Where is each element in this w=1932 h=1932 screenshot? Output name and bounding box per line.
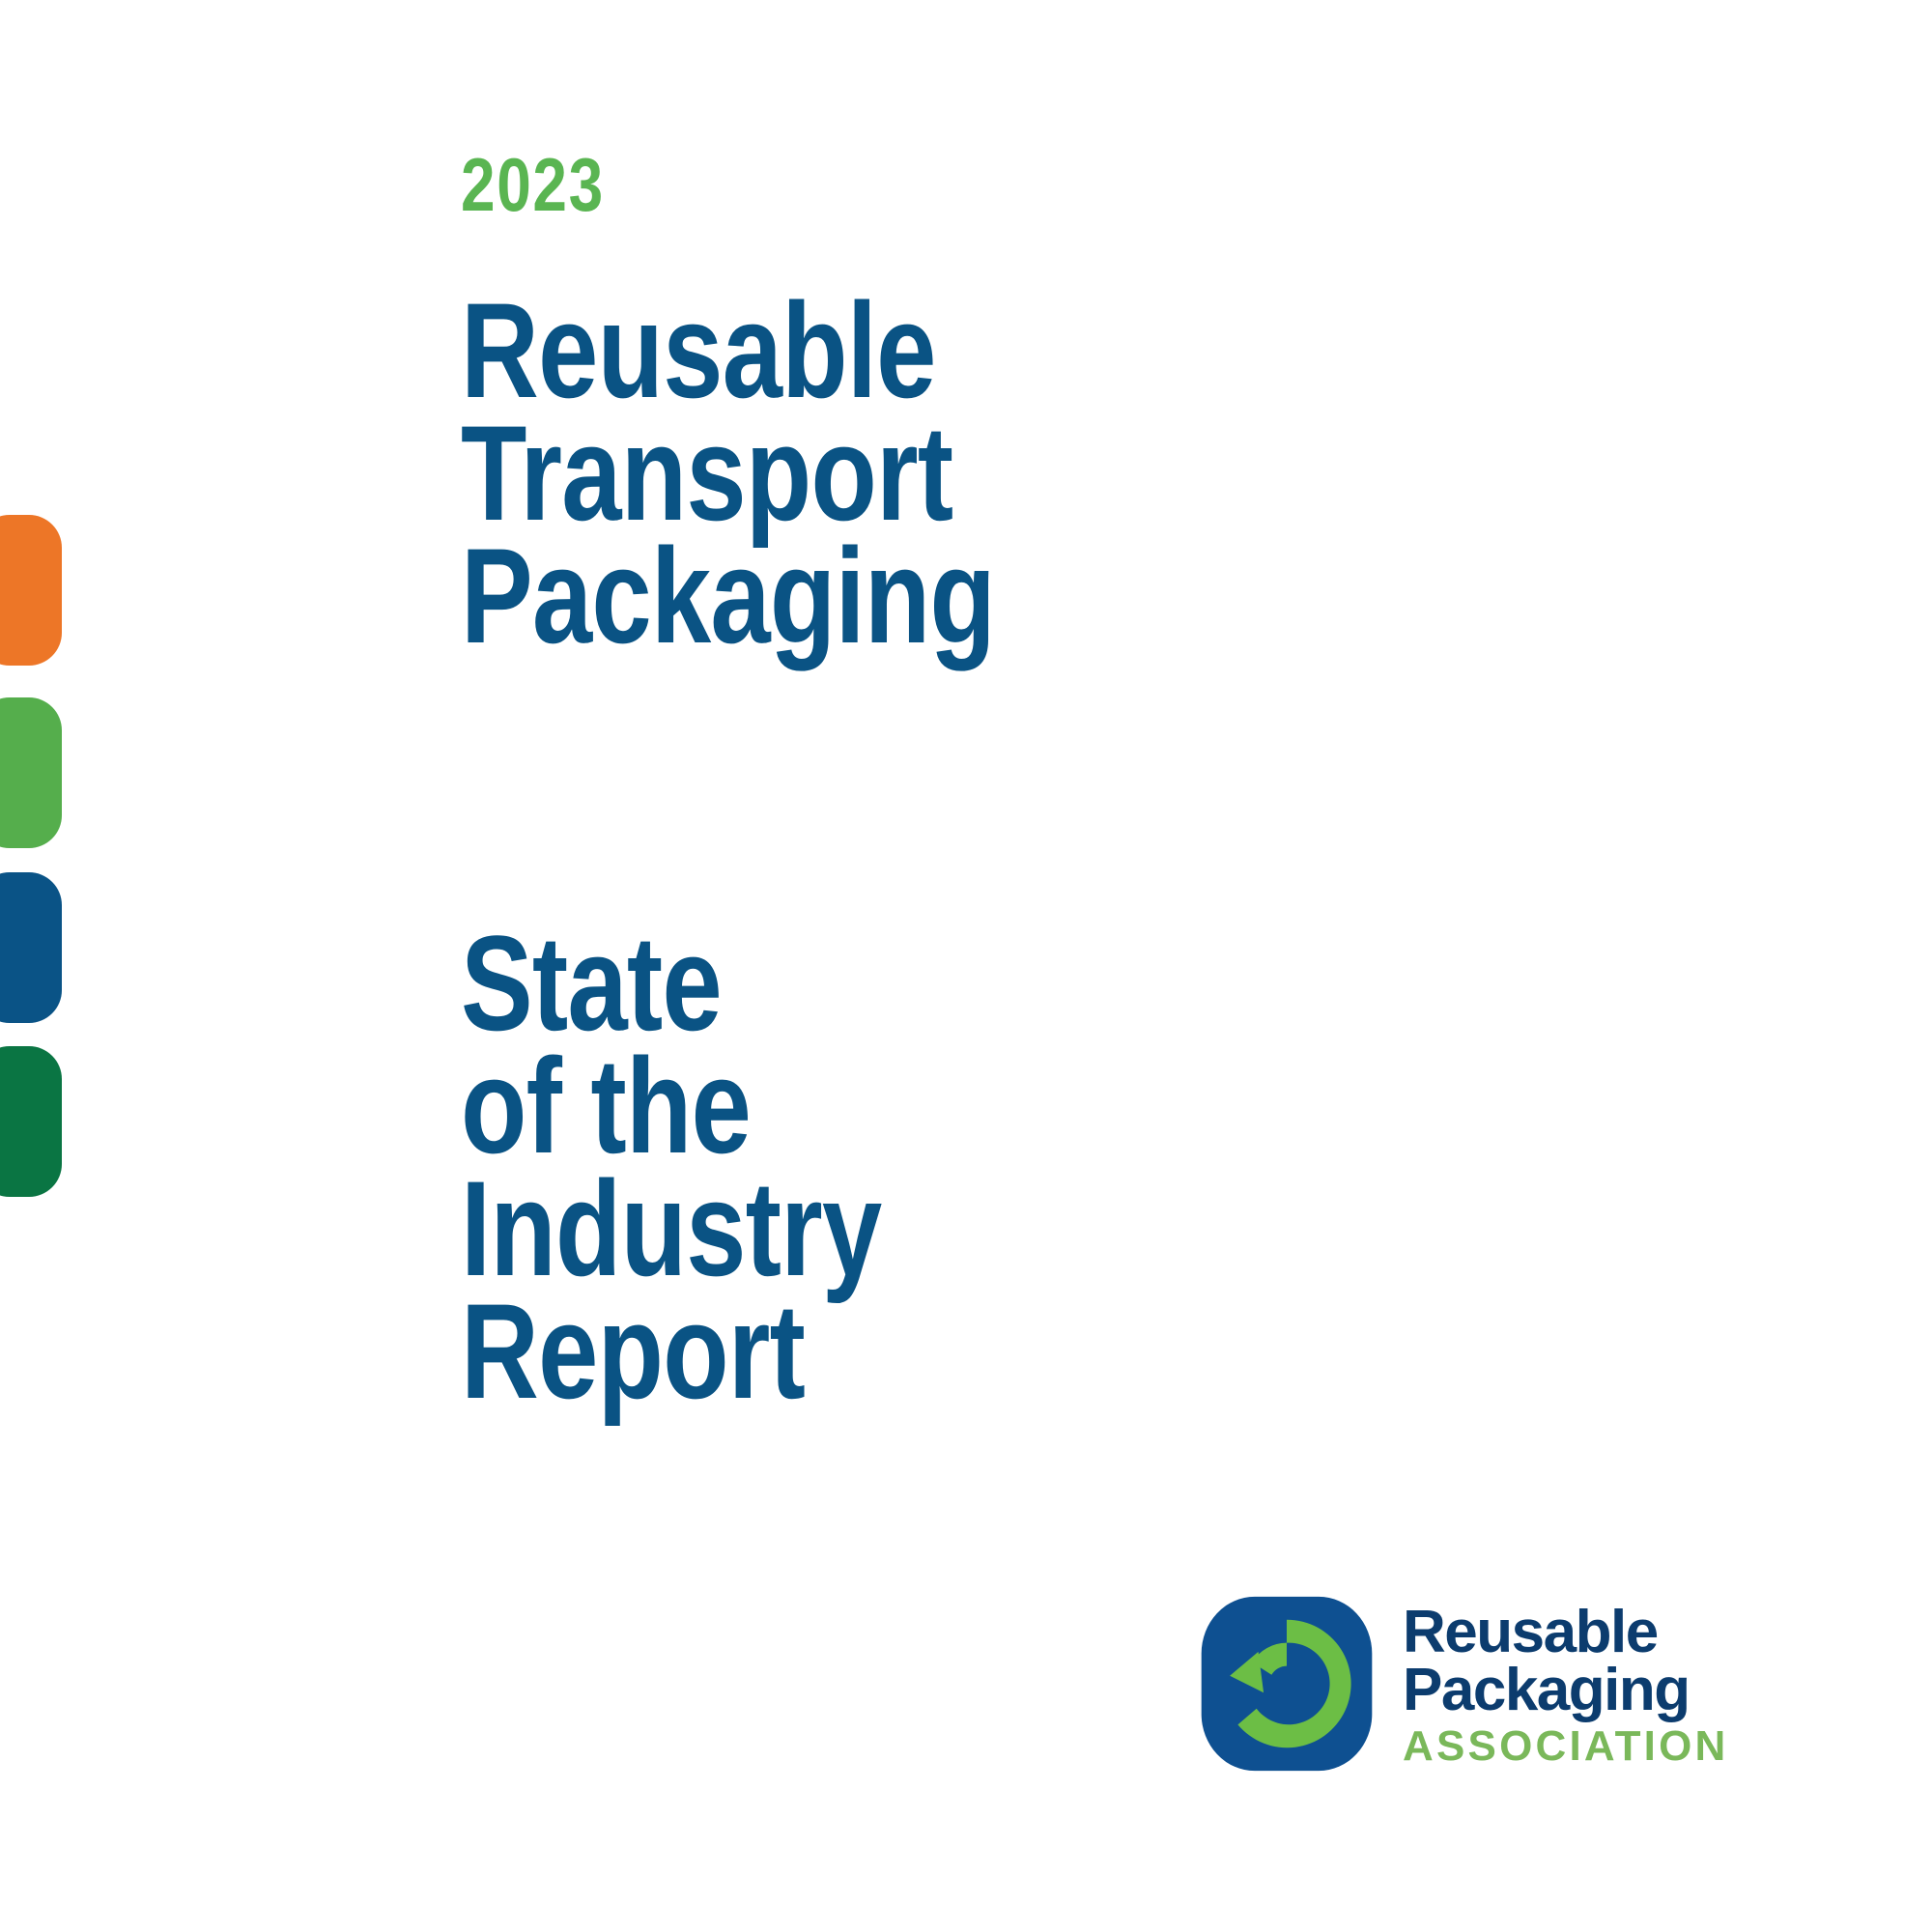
report-cover-page: 2023 Reusable Transport Packaging State … (0, 0, 1932, 1932)
orange-tab (0, 515, 62, 666)
subtitle-line-4: Report (461, 1291, 881, 1411)
title-line-1: Reusable (461, 290, 995, 411)
rpa-logo-text: Reusable Packaging ASSOCIATION (1403, 1594, 1729, 1770)
dark-green-tab (0, 1046, 62, 1197)
subtitle-line-1: State (461, 923, 881, 1043)
recycle-circular-arrow-icon (1198, 1594, 1376, 1774)
subtitle-line-3: Industry (461, 1168, 881, 1289)
logo-line-packaging: Packaging (1403, 1662, 1729, 1719)
subtitle-line-2: of the (461, 1045, 881, 1166)
report-title: Reusable Transport Packaging (461, 290, 1128, 658)
rpa-logo: Reusable Packaging ASSOCIATION (1198, 1594, 1729, 1774)
logo-line-association: ASSOCIATION (1403, 1723, 1729, 1770)
logo-line-reusable: Reusable (1403, 1604, 1729, 1662)
title-line-3: Packaging (461, 535, 995, 656)
title-line-2: Transport (461, 412, 995, 533)
report-subtitle: State of the Industry Report (461, 923, 986, 1413)
blue-tab (0, 872, 62, 1023)
color-tab-strip (0, 0, 77, 1932)
report-year: 2023 (461, 147, 605, 222)
light-green-tab (0, 697, 62, 848)
